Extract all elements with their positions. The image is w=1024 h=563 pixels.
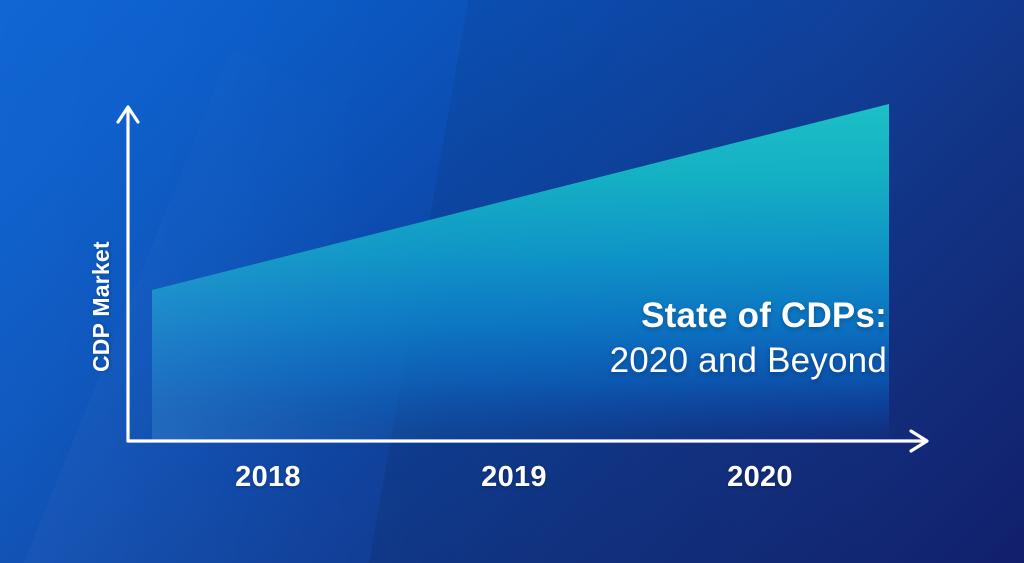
slide-canvas: CDP Market 2018 2019 2020 State of CDPs:…	[0, 0, 1024, 563]
x-tick-label-2018: 2018	[235, 461, 301, 494]
area-series-cdp-market	[152, 104, 889, 441]
headline-block: State of CDPs: 2020 and Beyond	[610, 294, 887, 384]
headline-line-1: State of CDPs:	[610, 294, 887, 337]
y-axis-label: CDP Market	[84, 112, 118, 372]
x-tick-label-2020: 2020	[727, 461, 793, 494]
headline-line-2: 2020 and Beyond	[610, 337, 887, 384]
x-tick-label-2019: 2019	[481, 461, 547, 494]
